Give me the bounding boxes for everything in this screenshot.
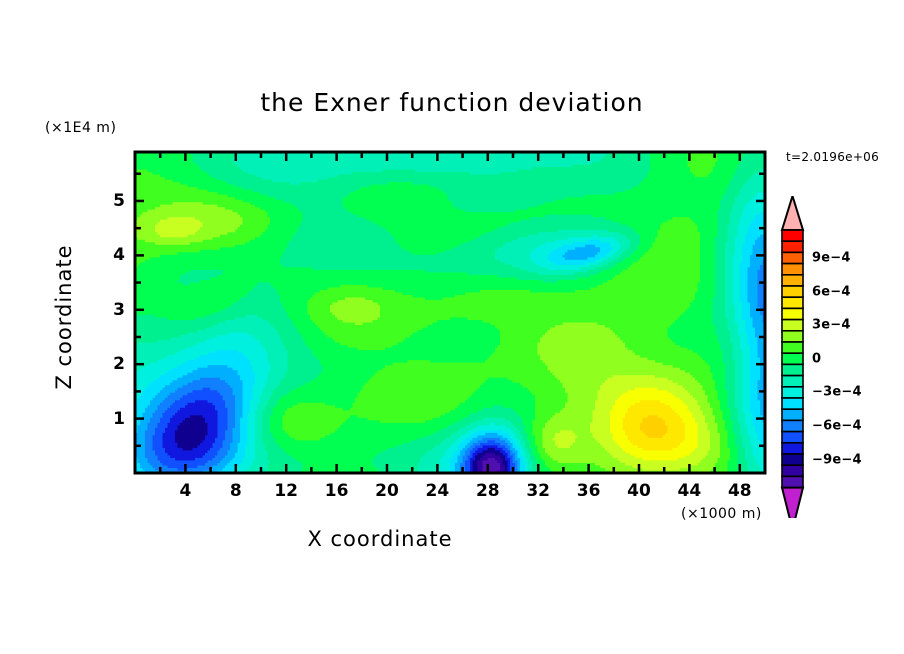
y-tick-label: 5 <box>101 191 125 211</box>
colorbar-tick-label: 0 <box>812 351 821 366</box>
x-tick-label: 36 <box>577 481 601 501</box>
colorbar-tick-label: 3e−4 <box>812 318 851 333</box>
x-tick-label: 8 <box>230 481 242 501</box>
x-tick-label: 20 <box>375 481 399 501</box>
x-tick-label: 44 <box>678 481 702 501</box>
colorbar-tick-label: 6e−4 <box>812 284 851 299</box>
x-tick-label: 40 <box>627 481 651 501</box>
x-tick-label: 12 <box>274 481 298 501</box>
y-tick-label: 1 <box>101 409 125 429</box>
x-tick-label: 4 <box>179 481 191 501</box>
x-tick-label: 32 <box>526 481 550 501</box>
y-tick-label: 4 <box>101 245 125 265</box>
colorbar-tick-label: 9e−4 <box>812 251 851 266</box>
colorbar <box>778 196 808 518</box>
colorbar-tick-label: −3e−4 <box>812 385 862 400</box>
y-tick-label: 2 <box>101 354 125 374</box>
x-tick-label: 16 <box>325 481 349 501</box>
colorbar-tick-label: −9e−4 <box>812 452 862 467</box>
x-tick-label: 28 <box>476 481 500 501</box>
x-tick-label: 48 <box>728 481 752 501</box>
figure-canvas: the Exner function deviation (×1E4 m) (×… <box>0 0 904 654</box>
colorbar-tick-label: −6e−4 <box>812 419 862 434</box>
y-tick-label: 3 <box>101 300 125 320</box>
x-tick-label: 24 <box>426 481 450 501</box>
axis-frame <box>0 0 904 654</box>
